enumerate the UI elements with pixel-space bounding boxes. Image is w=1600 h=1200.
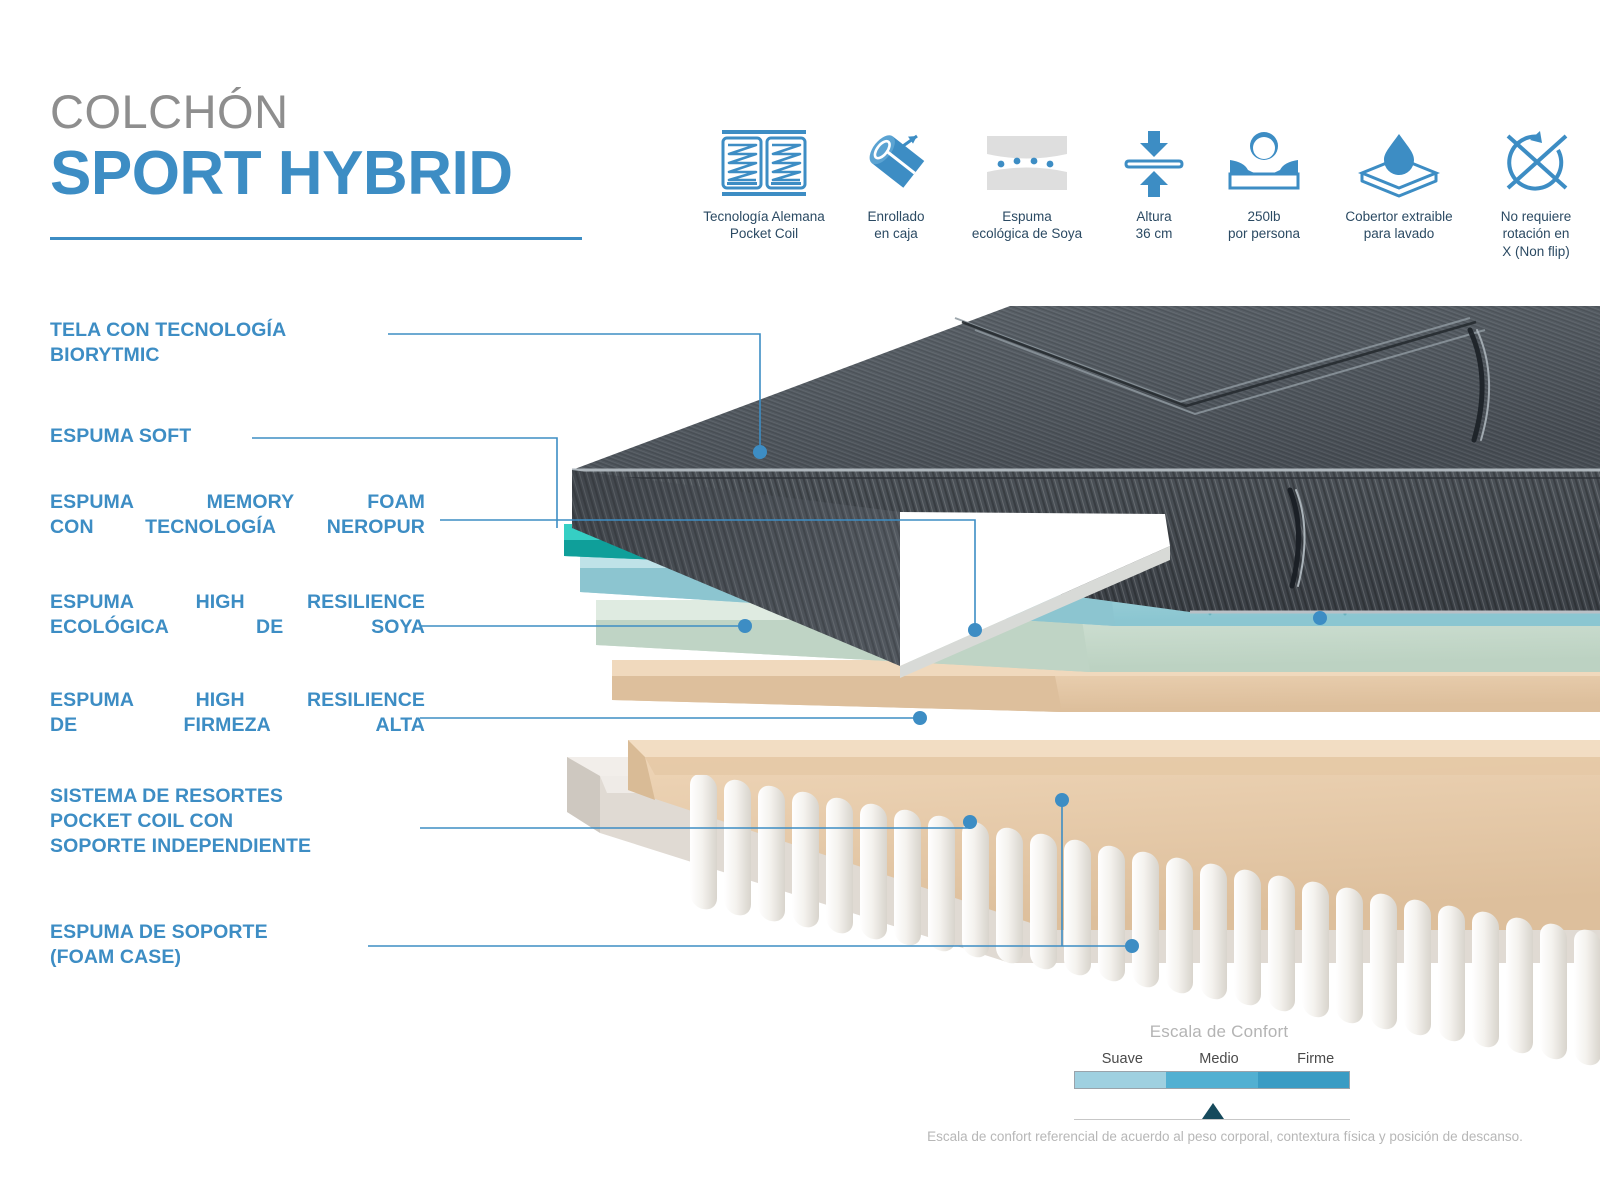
label-foam-case: ESPUMA DE SOPORTE (FOAM CASE) [50, 920, 268, 970]
label-soya: ESPUMA HIGH RESILIENCE ECOLÓGICA DE SOYA [50, 590, 425, 640]
comfort-scale-title: Escala de Confort [1074, 1022, 1364, 1042]
comfort-scale-bar [1074, 1071, 1350, 1089]
comfort-tick-medio: Medio [1171, 1051, 1268, 1067]
label-tela: TELA CON TECNOLOGÍA BIORYTMIC [50, 318, 286, 368]
comfort-scale-disclaimer: Escala de confort referencial de acuerdo… [895, 1128, 1555, 1146]
comfort-scale-baseline [1074, 1119, 1350, 1120]
comfort-segment-firme [1258, 1072, 1349, 1088]
comfort-segment-suave [1075, 1072, 1166, 1088]
infographic-canvas: COLCHÓN SPORT HYBRID Tecnología Alemana … [0, 0, 1600, 1200]
comfort-tick-suave: Suave [1074, 1051, 1171, 1067]
label-coil: SISTEMA DE RESORTES POCKET COIL CON SOPO… [50, 784, 311, 859]
comfort-scale-marker [1202, 1103, 1224, 1119]
label-firmeza: ESPUMA HIGH RESILIENCE DE FIRMEZA ALTA [50, 688, 425, 738]
layer-pocket-coil [628, 740, 1600, 1067]
comfort-tick-firme: Firme [1267, 1051, 1364, 1067]
comfort-scale-ticks: Suave Medio Firme [1074, 1051, 1364, 1067]
label-soft: ESPUMA SOFT [50, 424, 191, 449]
comfort-segment-medio [1166, 1072, 1257, 1088]
label-memory: ESPUMA MEMORY FOAM CON TECNOLOGÍA NEROPU… [50, 490, 425, 540]
comfort-scale: Escala de Confort Suave Medio Firme [1074, 1022, 1364, 1089]
